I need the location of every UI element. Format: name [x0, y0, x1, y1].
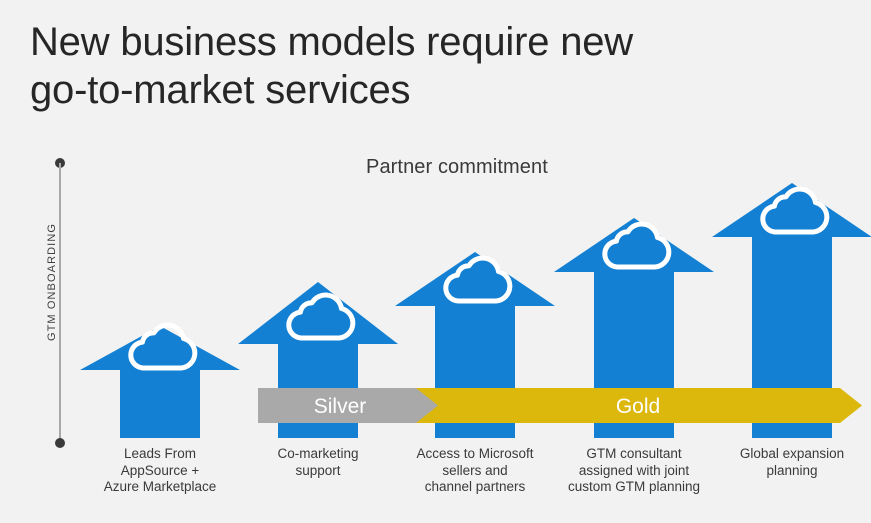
step-caption-3: Access to Microsoft sellers and channel … [393, 446, 557, 496]
gold-label: Gold [616, 395, 660, 418]
step-arrow-1[interactable] [80, 325, 240, 438]
step-caption-1: Leads From AppSource + Azure Marketplace [80, 446, 240, 496]
tier-banner-silver[interactable]: Silver [258, 388, 438, 423]
silver-label: Silver [314, 395, 367, 418]
step-caption-4: GTM consultant assigned with joint custo… [548, 446, 720, 496]
step-caption-5: Global expansion planning [712, 446, 871, 479]
slide-canvas: New business models require new go-to-ma… [0, 0, 871, 523]
arrow-diagram: Gold Silver [0, 0, 871, 523]
step-caption-2: Co-marketing support [238, 446, 398, 479]
arrow-shape-1 [80, 326, 240, 438]
tier-banner-gold[interactable]: Gold [413, 388, 862, 423]
